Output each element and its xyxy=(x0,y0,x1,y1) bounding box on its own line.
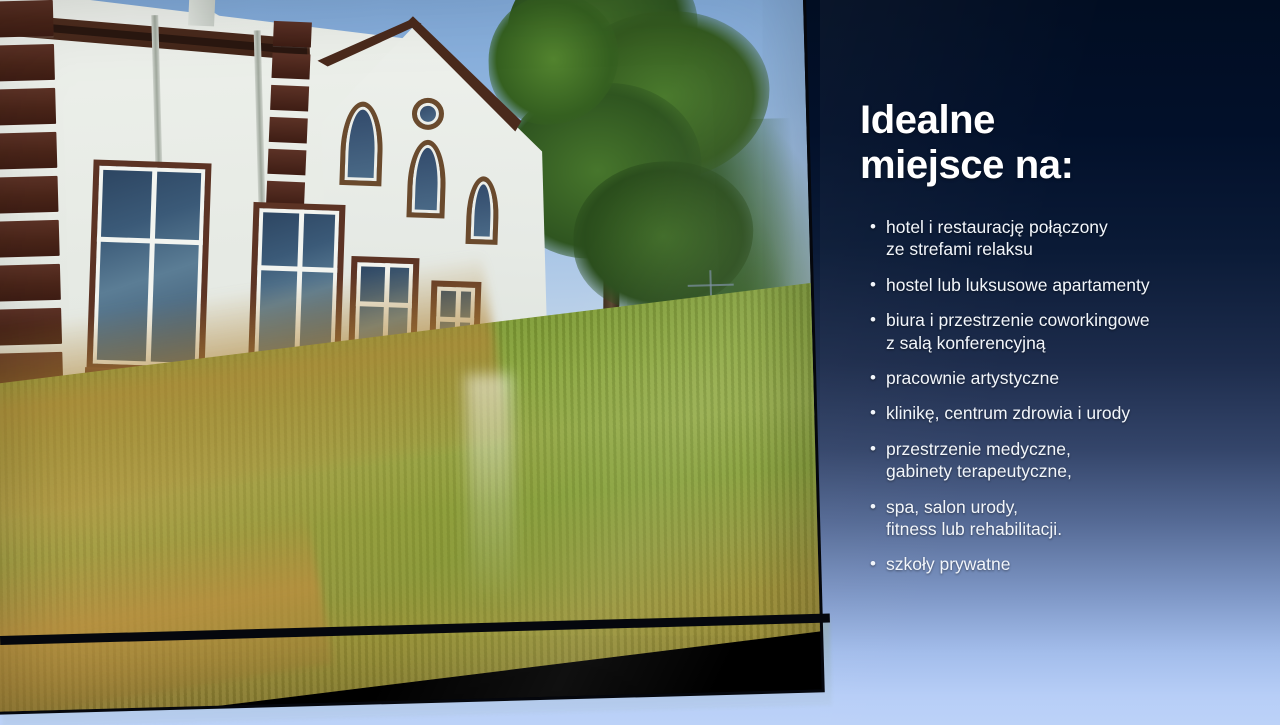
list-item: hostel lub luksusowe apartamenty xyxy=(870,274,1230,296)
photo-vignette xyxy=(0,0,822,712)
list-item: spa, salon urody, fitness lub rehabilita… xyxy=(870,496,1230,541)
building-photo xyxy=(0,0,822,712)
presentation-slide: Idealne miejsce na: hotel i restaurację … xyxy=(0,0,1280,725)
list-item: przestrzenie medyczne, gabinety terapeut… xyxy=(870,438,1230,483)
list-item: pracownie artystyczne xyxy=(870,367,1230,389)
photo-canvas xyxy=(0,0,822,712)
list-item: biura i przestrzenie coworkingowe z salą… xyxy=(870,309,1230,354)
list-item: klinikę, centrum zdrowia i urody xyxy=(870,402,1230,424)
benefits-list: hotel i restaurację połączony ze strefam… xyxy=(870,216,1230,589)
list-item: szkoły prywatne xyxy=(870,553,1230,575)
slide-title: Idealne miejsce na: xyxy=(860,98,1074,188)
list-item: hotel i restaurację połączony ze strefam… xyxy=(870,216,1230,261)
text-panel: Idealne miejsce na: hotel i restaurację … xyxy=(846,0,1280,725)
